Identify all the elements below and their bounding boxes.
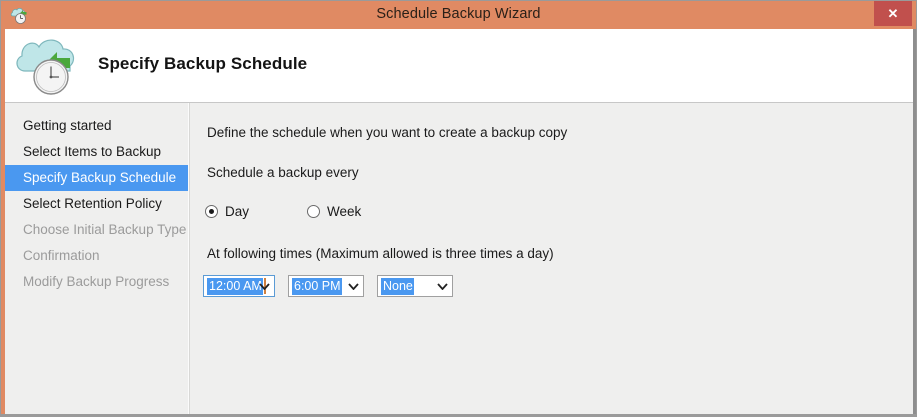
radio-label-day: Day [225,204,249,219]
chevron-down-icon[interactable] [256,277,273,295]
sidebar-item-choose-initial-backup-type: Choose Initial Backup Type [5,217,188,243]
sidebar-item-modify-backup-progress: Modify Backup Progress [5,269,188,295]
time-select-3-value: None [381,278,414,295]
close-button[interactable]: ✕ [874,1,912,26]
main-content: Define the schedule when you want to cre… [190,103,913,414]
radio-option-week[interactable]: Week [307,204,361,219]
schedule-backup-wizard-window: Schedule Backup Wizard ✕ Specify Backup … [0,0,917,417]
page-title: Specify Backup Schedule [98,54,307,74]
sidebar-item-getting-started[interactable]: Getting started [5,113,188,139]
page-header: Specify Backup Schedule [5,29,913,103]
right-border-strip [913,29,916,414]
sidebar-item-select-retention-policy[interactable]: Select Retention Policy [5,191,188,217]
time-select-2-value: 6:00 PM [292,278,342,295]
wizard-step-nav: Getting started Select Items to Backup S… [5,103,189,414]
time-selects-row: 12:00 AM 6:00 PM None [203,275,466,297]
time-select-2[interactable]: 6:00 PM [288,275,364,297]
radio-dot-day-icon [205,205,218,218]
sidebar-item-select-items-to-backup[interactable]: Select Items to Backup [5,139,188,165]
frequency-radio-group: Day Week [205,204,361,219]
frequency-label: Schedule a backup every [207,165,359,180]
time-select-3[interactable]: None [377,275,453,297]
radio-dot-week-icon [307,205,320,218]
description-text: Define the schedule when you want to cre… [207,125,567,140]
title-bar: Schedule Backup Wizard ✕ [1,1,916,29]
time-select-1[interactable]: 12:00 AM [203,275,275,297]
sidebar-item-specify-backup-schedule[interactable]: Specify Backup Schedule [5,165,188,191]
radio-option-day[interactable]: Day [205,204,249,219]
time-select-1-value: 12:00 AM [207,278,263,295]
cloud-backup-clock-icon [13,35,91,97]
window-title: Schedule Backup Wizard [1,6,916,22]
chevron-down-icon[interactable] [434,277,451,295]
chevron-down-icon[interactable] [345,277,362,295]
radio-label-week: Week [327,204,361,219]
sidebar-item-confirmation: Confirmation [5,243,188,269]
times-label: At following times (Maximum allowed is t… [207,246,554,261]
